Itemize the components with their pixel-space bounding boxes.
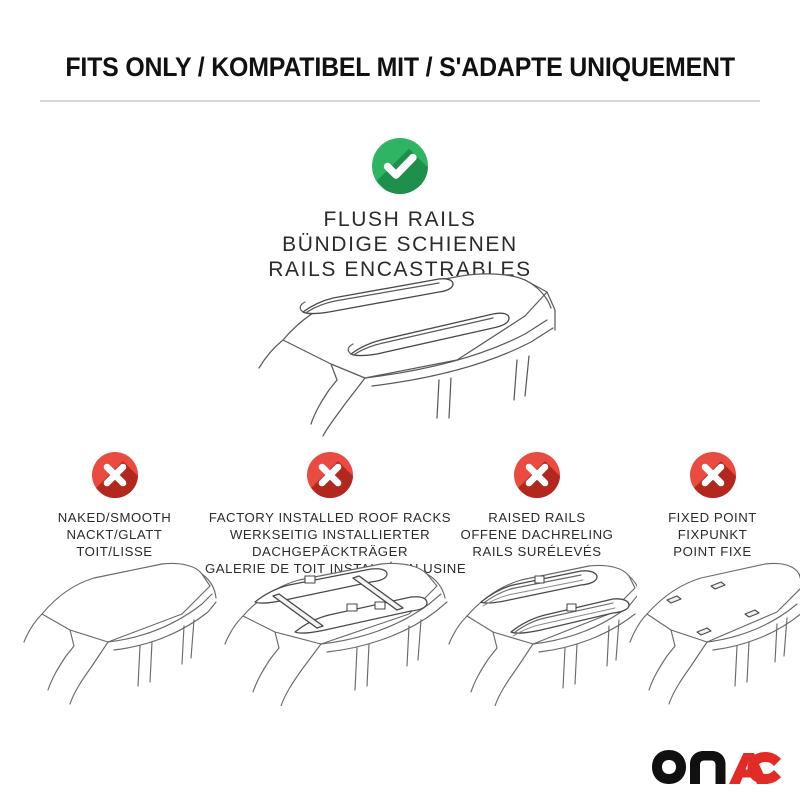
infographic-page: FITS ONLY / KOMPATIBEL MIT / S'ADAPTE UN… bbox=[0, 0, 800, 800]
option-caption: FIXED POINT FIXPUNKT POINT FIXE bbox=[625, 509, 800, 560]
page-header: FITS ONLY / KOMPATIBEL MIT / S'ADAPTE UN… bbox=[0, 52, 800, 83]
car-roof-fixed-point-illustration bbox=[625, 556, 800, 706]
option-factory-roof-racks: FACTORY INSTALLED ROOF RACKS WERKSEITIG … bbox=[205, 452, 455, 578]
x-glyph-icon bbox=[92, 452, 138, 498]
incompatible-badge bbox=[514, 452, 560, 498]
option-caption-line-en: FACTORY INSTALLED ROOF RACKS bbox=[205, 509, 455, 526]
option-fixed-point: FIXED POINT FIXPUNKT POINT FIXE bbox=[625, 452, 800, 560]
option-raised-rails: RAISED RAILS OFFENE DACHRELING RAILS SUR… bbox=[437, 452, 637, 560]
option-caption-line-en: FIXED POINT bbox=[625, 509, 800, 526]
compatible-badge bbox=[372, 138, 428, 194]
compatible-caption-line-en: FLUSH RAILS bbox=[0, 208, 800, 233]
check-glyph-icon bbox=[372, 138, 428, 194]
car-roof-raised-rails-illustration bbox=[437, 556, 637, 706]
option-caption-line-en: NAKED/SMOOTH bbox=[12, 509, 217, 526]
car-roof-naked-illustration bbox=[12, 556, 217, 706]
option-naked-smooth: NAKED/SMOOTH NACKT/GLATT TOIT/LISSE bbox=[12, 452, 217, 560]
option-caption-line-de: NACKT/GLATT bbox=[12, 526, 217, 543]
x-glyph-icon bbox=[514, 452, 560, 498]
option-caption-line-de-1: WERKSEITIG INSTALLIERTER bbox=[205, 526, 455, 543]
car-roof-flush-rails-illustration bbox=[225, 268, 595, 438]
compatible-caption-line-de: BÜNDIGE SCHIENEN bbox=[0, 233, 800, 258]
incompatible-badge bbox=[307, 452, 353, 498]
x-glyph-icon bbox=[307, 452, 353, 498]
incompatible-options: NAKED/SMOOTH NACKT/GLATT TOIT/LISSE bbox=[0, 452, 800, 722]
option-caption: RAISED RAILS OFFENE DACHRELING RAILS SUR… bbox=[437, 509, 637, 560]
omac-logo bbox=[650, 746, 782, 788]
option-caption-line-en: RAISED RAILS bbox=[437, 509, 637, 526]
option-caption: NAKED/SMOOTH NACKT/GLATT TOIT/LISSE bbox=[12, 509, 217, 560]
option-caption-line-de: OFFENE DACHRELING bbox=[437, 526, 637, 543]
option-caption-line-de: FIXPUNKT bbox=[625, 526, 800, 543]
x-glyph-icon bbox=[690, 452, 736, 498]
compatible-section: FLUSH RAILS BÜNDIGE SCHIENEN RAILS ENCAS… bbox=[0, 138, 800, 282]
incompatible-badge bbox=[690, 452, 736, 498]
header-divider bbox=[40, 100, 760, 102]
incompatible-badge bbox=[92, 452, 138, 498]
page-title: FITS ONLY / KOMPATIBEL MIT / S'ADAPTE UN… bbox=[65, 52, 735, 83]
car-roof-crossbars-illustration bbox=[205, 556, 455, 706]
